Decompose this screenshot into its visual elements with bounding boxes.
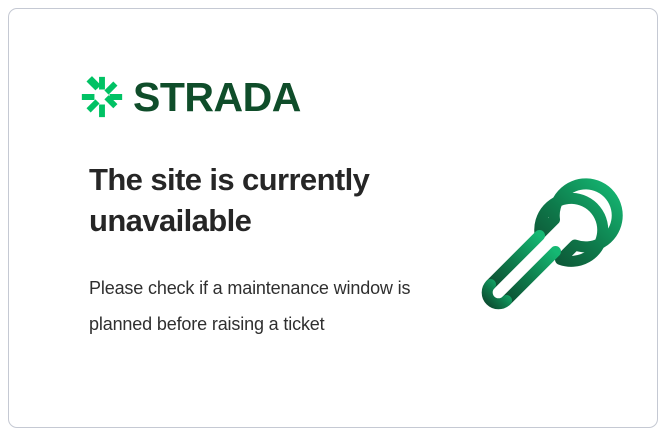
status-card: STRADA The site is currently unavailable… [8, 8, 658, 428]
page-description: Please check if a maintenance window is … [89, 241, 419, 341]
page-title: The site is currently unavailable [89, 159, 419, 241]
strada-asterisk-icon [81, 76, 123, 118]
message-block: The site is currently unavailable Please… [89, 159, 419, 342]
brand-logo: STRADA [81, 71, 301, 123]
brand-wordmark: STRADA [133, 77, 301, 118]
page-root: STRADA The site is currently unavailable… [0, 0, 666, 436]
